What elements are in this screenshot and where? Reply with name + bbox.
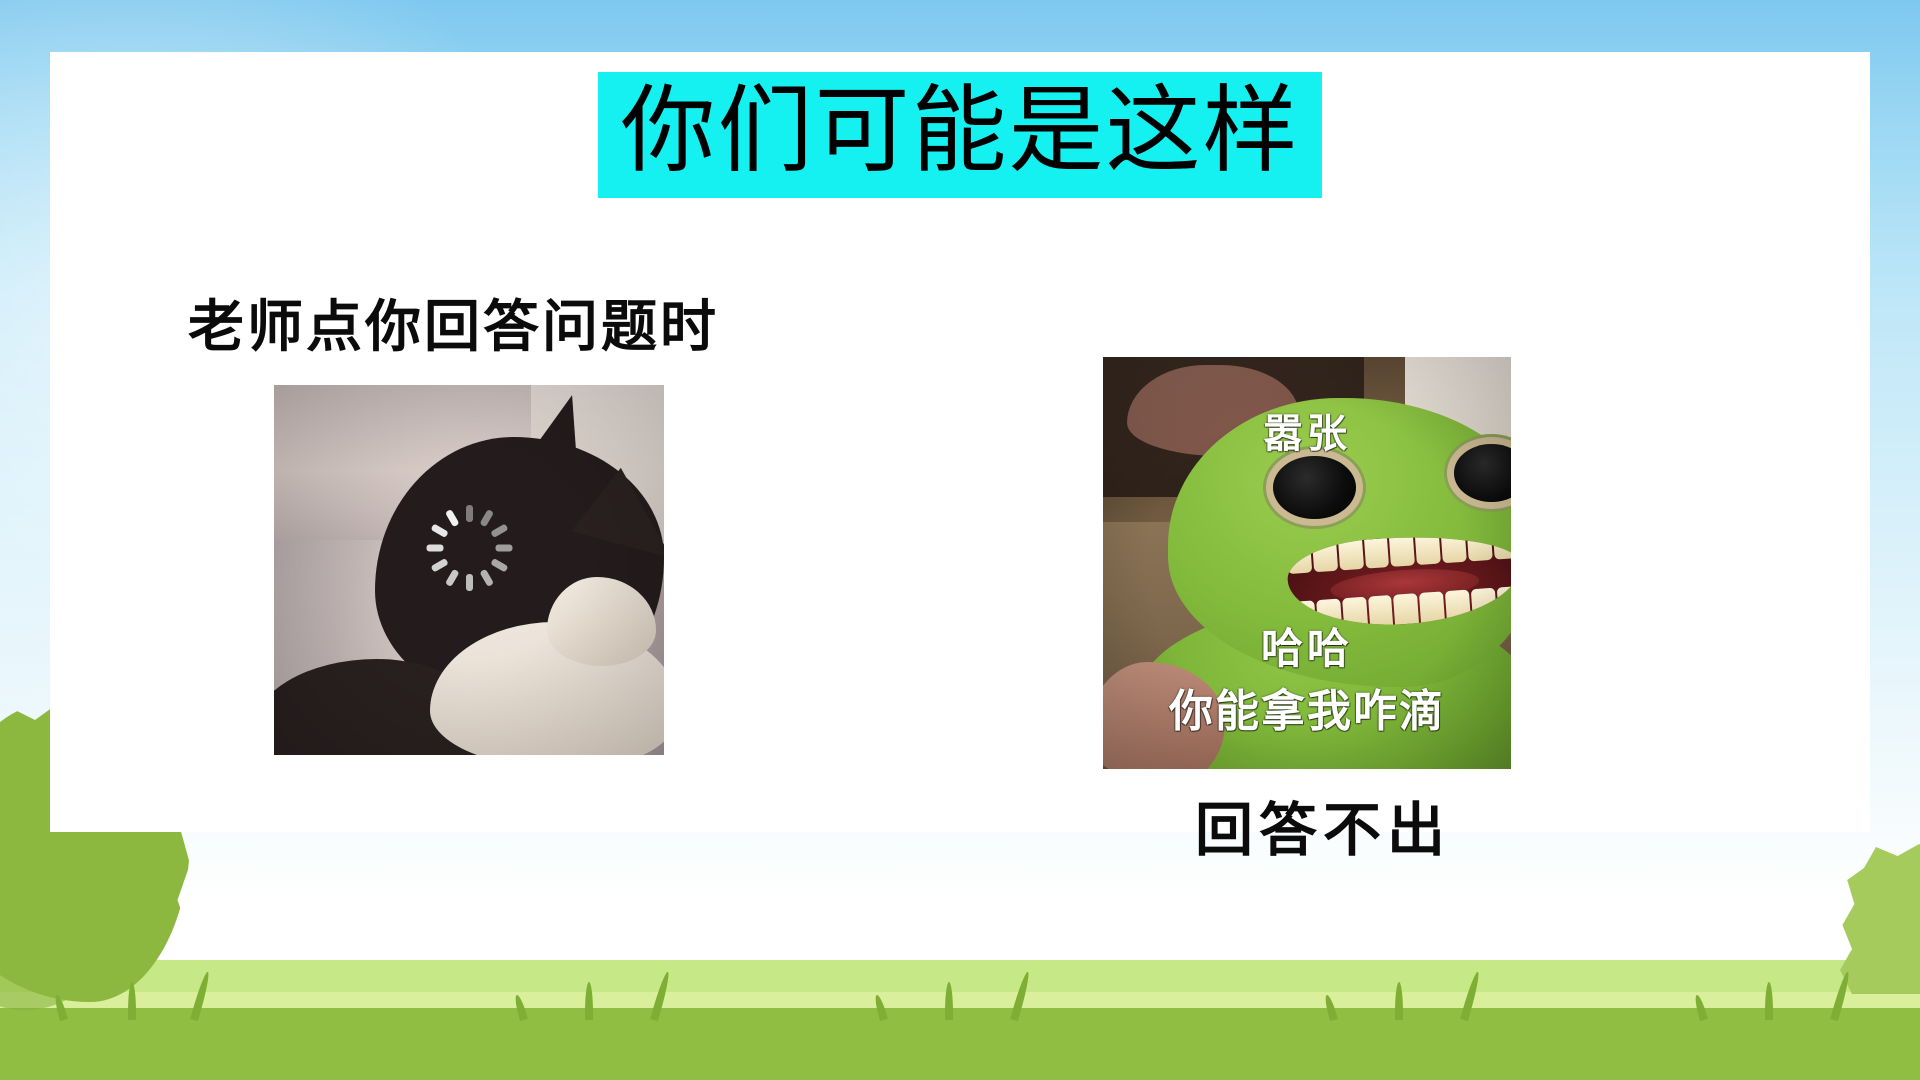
spinner-segment bbox=[444, 569, 459, 587]
spinner-segment bbox=[495, 544, 512, 551]
frog-plush-photo: 嚣张 哈哈 你能拿我咋滴 bbox=[1103, 357, 1511, 769]
loading-cat-photo bbox=[274, 385, 664, 755]
left-caption: 老师点你回答问题时 bbox=[188, 282, 810, 363]
spinner-segment bbox=[479, 569, 494, 587]
frog-overlay-text-1: 嚣张 bbox=[1103, 401, 1511, 459]
spinner-segment bbox=[466, 505, 473, 522]
spinner-segment bbox=[466, 574, 473, 591]
page-title: 你们可能是这样 bbox=[598, 72, 1321, 198]
background-grass-dark bbox=[0, 1008, 1920, 1080]
spinner-segment bbox=[426, 544, 443, 551]
spinner-segment bbox=[479, 509, 494, 527]
spinner-segment bbox=[490, 523, 508, 538]
loading-spinner-icon bbox=[426, 505, 512, 591]
right-caption: 回答不出 bbox=[1103, 783, 1543, 867]
spinner-segment bbox=[490, 558, 508, 573]
slide-content-card: 你们可能是这样 老师点你回答问题时 bbox=[50, 52, 1870, 832]
left-panel: 老师点你回答问题时 bbox=[170, 282, 810, 755]
slide-canvas: 你们可能是这样 老师点你回答问题时 bbox=[0, 0, 1920, 1080]
spinner-segment bbox=[430, 558, 448, 573]
right-panel: 嚣张 哈哈 你能拿我咋滴 回答不出 bbox=[1103, 357, 1543, 867]
frog-overlay-text-2: 哈哈 bbox=[1103, 615, 1511, 676]
frog-overlay-text-3: 你能拿我咋滴 bbox=[1103, 675, 1511, 739]
page-title-container: 你们可能是这样 bbox=[50, 72, 1870, 198]
spinner-segment bbox=[444, 509, 459, 527]
spinner-segment bbox=[430, 523, 448, 538]
